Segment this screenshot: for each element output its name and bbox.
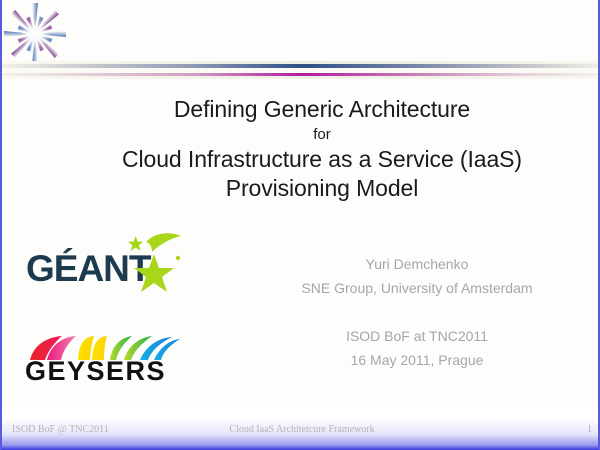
slide-title: Defining Generic Architecture for Cloud … bbox=[62, 95, 582, 203]
geant-stars-icon bbox=[124, 232, 186, 294]
presentation-slide: Defining Generic Architecture for Cloud … bbox=[0, 0, 600, 450]
author-affiliation: SNE Group, University of Amsterdam bbox=[257, 276, 577, 300]
event-date-place: 16 May 2011, Prague bbox=[257, 348, 577, 372]
geysers-wordmark: GEYSERS bbox=[25, 356, 166, 387]
geysers-logo: GEYSERS bbox=[20, 334, 185, 386]
author-name: Yuri Demchenko bbox=[257, 252, 577, 276]
starburst-icon bbox=[2, 0, 80, 68]
footer-page-number: 1 bbox=[2, 424, 592, 435]
event-name: ISOD BoF at TNC2011 bbox=[257, 324, 577, 348]
author-event-block: Yuri Demchenko SNE Group, University of … bbox=[257, 252, 577, 372]
title-connector: for bbox=[62, 124, 582, 145]
title-line-1: Defining Generic Architecture bbox=[62, 95, 582, 124]
title-line-2: Cloud Infrastructure as a Service (IaaS) bbox=[62, 145, 582, 174]
title-line-3: Provisioning Model bbox=[62, 174, 582, 203]
geant-logo: GÉANT bbox=[24, 232, 184, 298]
author-block-spacer bbox=[257, 300, 577, 324]
header-rule-soft-bottom bbox=[2, 76, 600, 79]
